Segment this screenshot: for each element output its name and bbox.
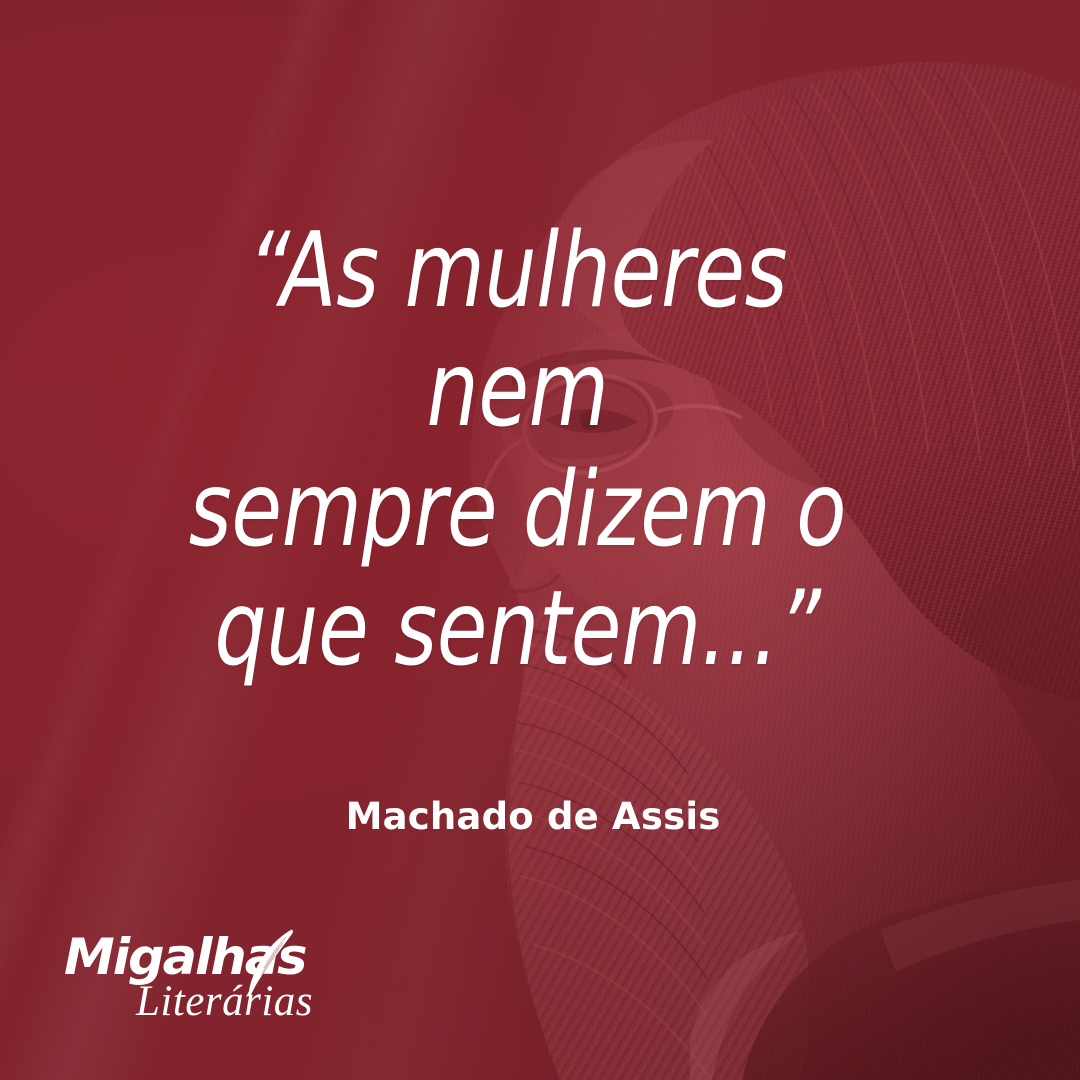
quote-card: “As mulheres nem sempre dizem o que sent… — [0, 0, 1080, 1080]
quote-author-name: Machado de Assis — [346, 795, 721, 838]
quote-author: Machado de Assis — [0, 795, 1080, 838]
brand-subtitle: Literárias — [136, 980, 313, 1023]
brand-logo[interactable]: Migalhas Literárias — [64, 932, 324, 1028]
quote-text: “As mulheres nem sempre dizem o que sent… — [160, 212, 876, 690]
